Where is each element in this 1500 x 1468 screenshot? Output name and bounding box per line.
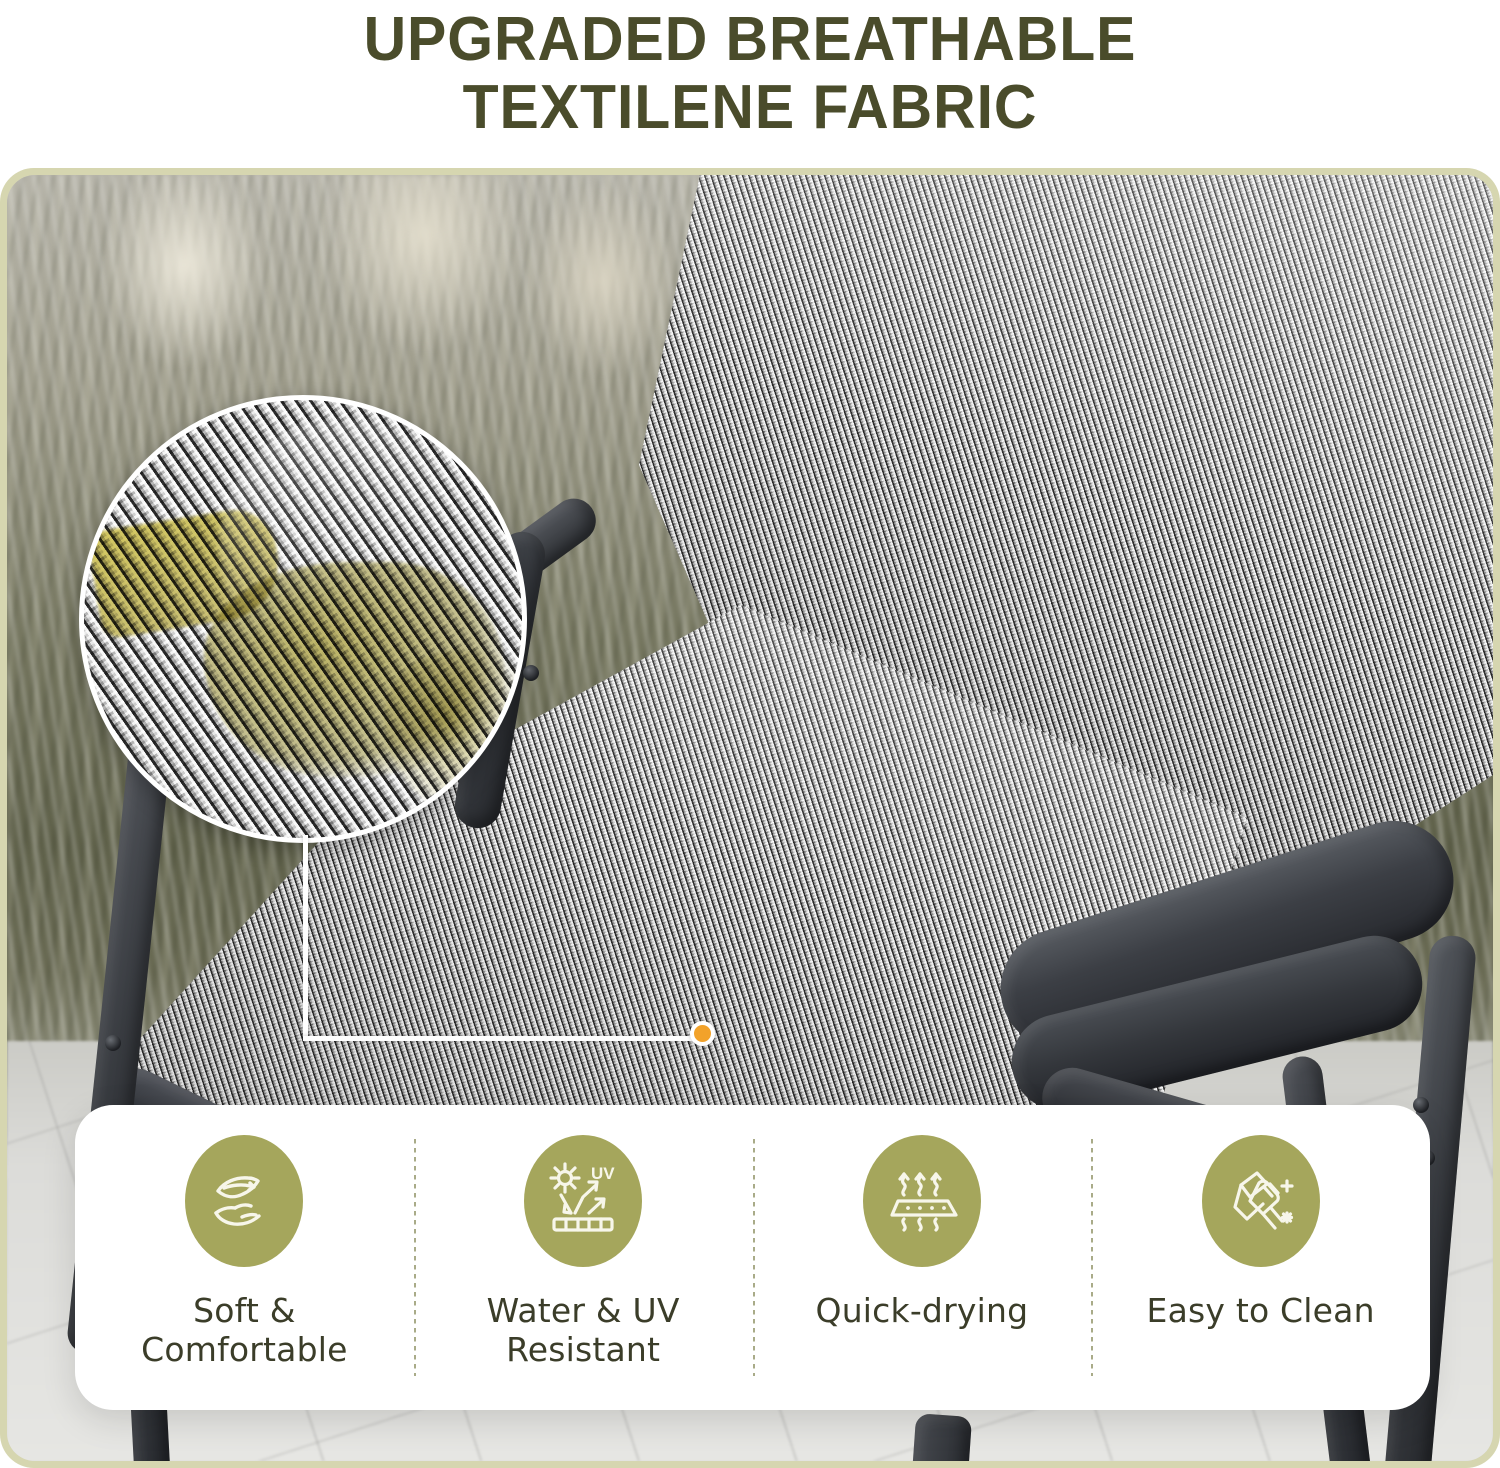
liquid-spill-patch-small xyxy=(384,650,527,810)
callout-line-horizontal xyxy=(303,1036,703,1041)
feature-label: Easy to Clean xyxy=(1147,1291,1375,1330)
feature-label: Quick-drying xyxy=(816,1291,1029,1330)
chair-leg-below-card xyxy=(908,1413,972,1461)
feature-soft-comfortable: Soft & Comfortable xyxy=(75,1105,414,1410)
feature-water-uv-resistant: UV Water & UV Resistant xyxy=(414,1105,753,1410)
liquid-gloss-highlight xyxy=(219,420,449,680)
feature-label: Water & UV Resistant xyxy=(487,1291,680,1369)
feature-highlights-card: Soft & Comfortable UV Water & U xyxy=(75,1105,1430,1410)
fabric-closeup-magnifier xyxy=(79,395,527,843)
page-title: UPGRADED BREATHABLE TEXTILENE FABRIC xyxy=(38,6,1463,142)
frame-bolt xyxy=(105,1035,121,1051)
product-feature-graphic: UPGRADED BREATHABLE TEXTILENE FABRIC xyxy=(0,0,1500,1468)
callout-line-vertical xyxy=(303,835,308,1040)
feature-label: Soft & Comfortable xyxy=(141,1291,348,1369)
feature-quick-drying: Quick-drying xyxy=(753,1105,1092,1410)
leaf-in-hand-icon xyxy=(185,1135,303,1267)
callout-target-dot xyxy=(690,1021,715,1046)
sun-uv-rays-icon: UV xyxy=(524,1135,642,1267)
feature-easy-to-clean: Easy to Clean xyxy=(1091,1105,1430,1410)
wiping-cloth-sparkle-icon xyxy=(1202,1135,1320,1267)
svg-text:UV: UV xyxy=(591,1164,615,1183)
airflow-mesh-icon xyxy=(863,1135,981,1267)
frame-bolt xyxy=(523,665,539,681)
